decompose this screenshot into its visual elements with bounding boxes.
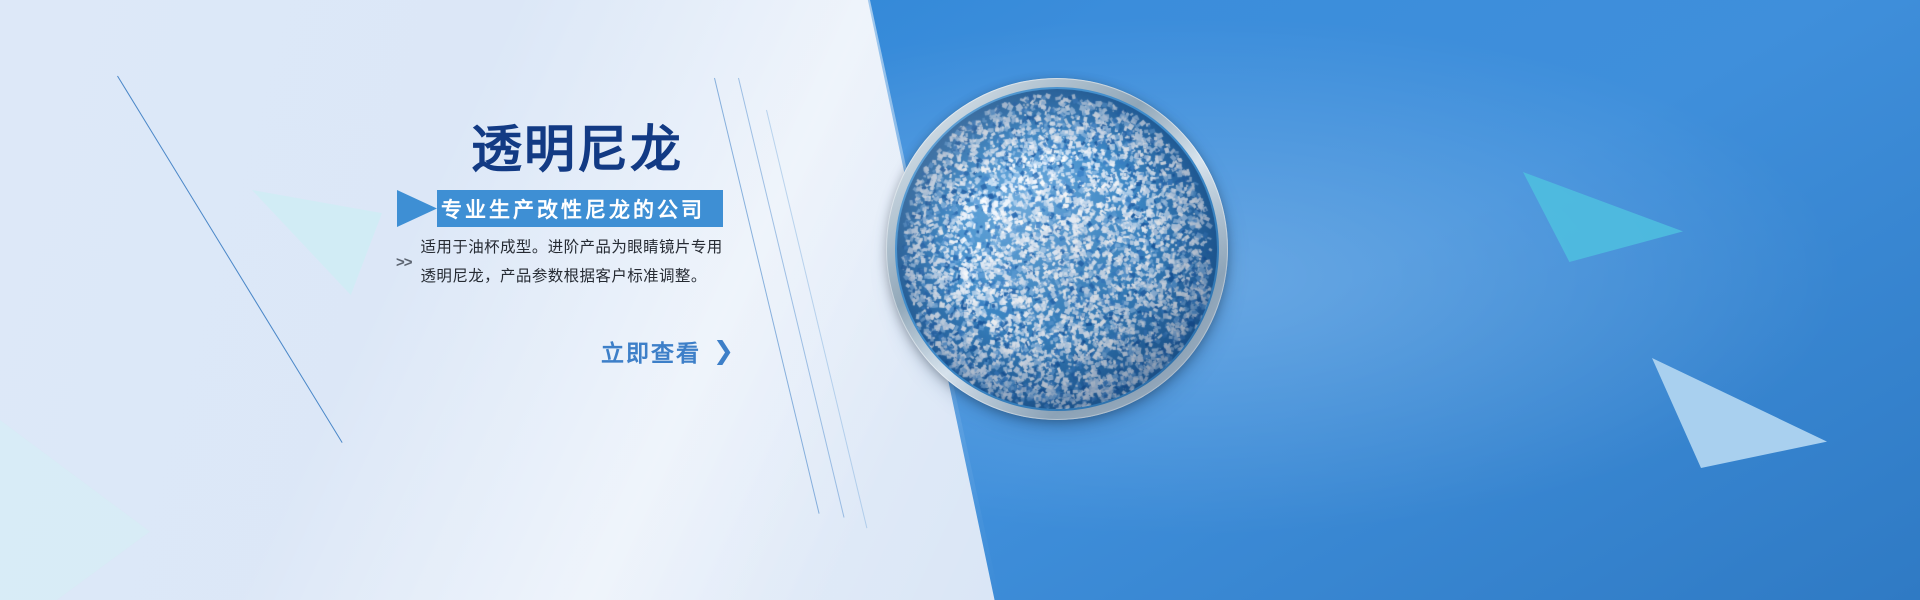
- promo-banner: 透明尼龙 专业生产改性尼龙的公司 >> 适用于油杯成型。进阶产品为眼睛镜片专用 …: [0, 0, 1920, 600]
- page-title: 透明尼龙: [471, 124, 683, 175]
- nylon-pellets: [897, 89, 1217, 409]
- tagline-ribbon: 专业生产改性尼龙的公司: [397, 190, 723, 227]
- banner-content: 透明尼龙 专业生产改性尼龙的公司 >> 适用于油杯成型。进阶产品为眼睛镜片专用 …: [0, 0, 820, 600]
- tagline-label: 专业生产改性尼龙的公司: [437, 190, 723, 227]
- description-block: >> 适用于油杯成型。进阶产品为眼睛镜片专用 透明尼龙，产品参数根据客户标准调整…: [396, 234, 723, 291]
- view-now-button[interactable]: 立即查看 ❯: [601, 334, 736, 368]
- double-chevron-icon: >>: [396, 255, 412, 270]
- ribbon-arrow-icon: [397, 190, 437, 227]
- view-now-label: 立即查看: [601, 334, 701, 368]
- description-text: 适用于油杯成型。进阶产品为眼睛镜片专用 透明尼龙，产品参数根据客户标准调整。: [421, 234, 723, 291]
- product-image-petri-dish: [886, 78, 1228, 420]
- dish-interior: [895, 87, 1219, 411]
- chevron-right-icon: ❯: [713, 339, 736, 364]
